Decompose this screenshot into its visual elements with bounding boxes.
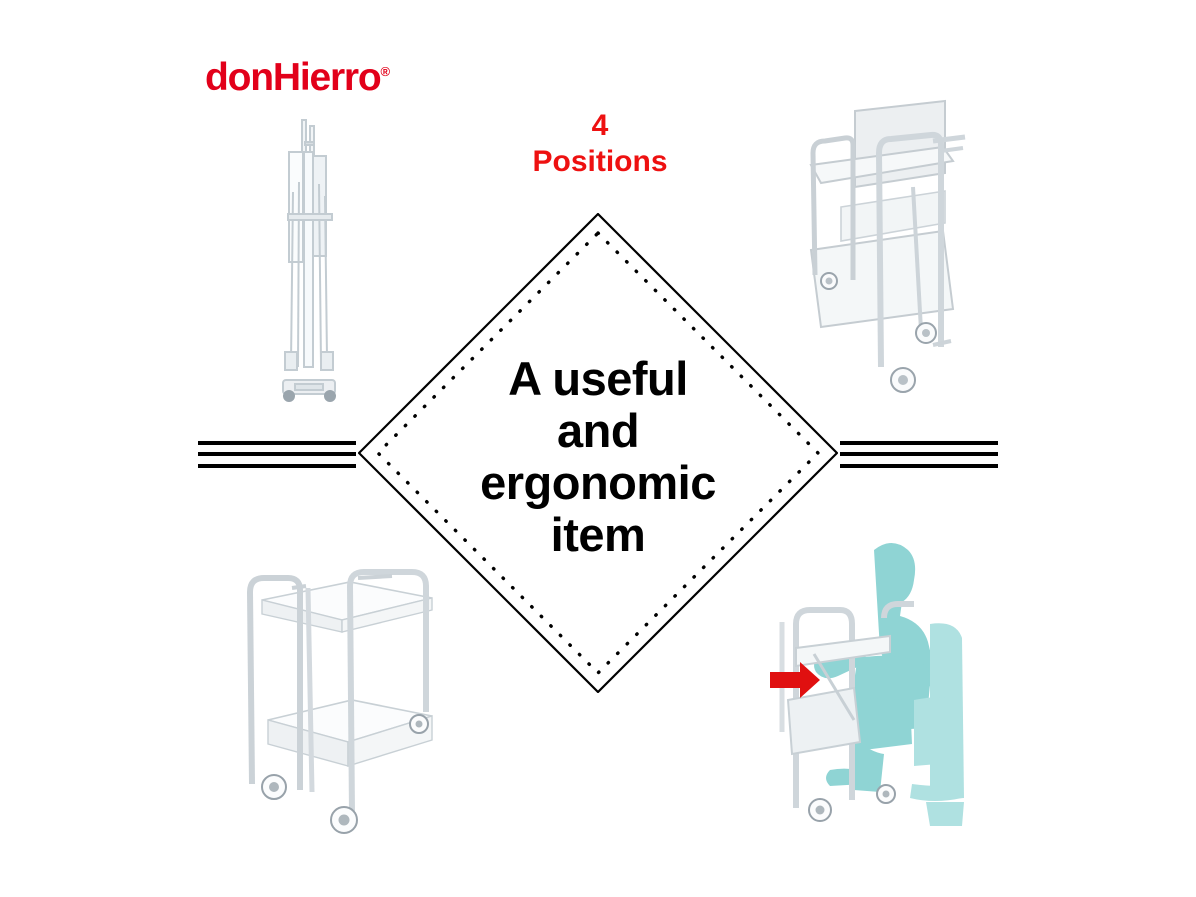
photo-open-trolley xyxy=(232,552,447,852)
brand-logo-text: donHierro xyxy=(205,56,381,99)
left-line-2 xyxy=(198,452,356,456)
positions-headline: 4 Positions xyxy=(455,108,745,180)
right-line-1 xyxy=(840,441,998,445)
slide-canvas: donHierro® 4 Positions A useful and ergo… xyxy=(0,0,1196,897)
positions-headline-line2: Positions xyxy=(455,144,745,180)
trolley-bottom-shelf xyxy=(788,688,860,754)
photo-side-view-trolley xyxy=(793,95,988,415)
left-line-3 xyxy=(198,464,356,468)
diamond-text-line-4: item xyxy=(448,509,748,561)
diamond-text-block: A useful and ergonomic item xyxy=(448,353,748,561)
open-trolley-illustration xyxy=(232,552,447,852)
registered-trademark-icon: ® xyxy=(381,64,391,79)
diamond-text-line-3: ergonomic xyxy=(448,457,748,509)
diamond-text-line-2: and xyxy=(448,405,748,457)
right-line-2 xyxy=(840,452,998,456)
photo-folded-trolley xyxy=(255,112,365,412)
positions-headline-line1: 4 xyxy=(455,108,745,144)
photo-ergonomic-seated-use xyxy=(762,532,992,832)
right-line-3 xyxy=(840,464,998,468)
side-view-trolley-illustration xyxy=(793,95,988,415)
diamond-text-line-1: A useful xyxy=(448,353,748,405)
folded-trolley-illustration xyxy=(255,112,365,412)
left-line-decoration xyxy=(198,441,356,470)
brand-logo: donHierro® xyxy=(205,58,390,97)
left-line-1 xyxy=(198,441,356,445)
ergonomic-seated-use-illustration xyxy=(762,532,992,832)
right-line-decoration xyxy=(840,441,998,470)
